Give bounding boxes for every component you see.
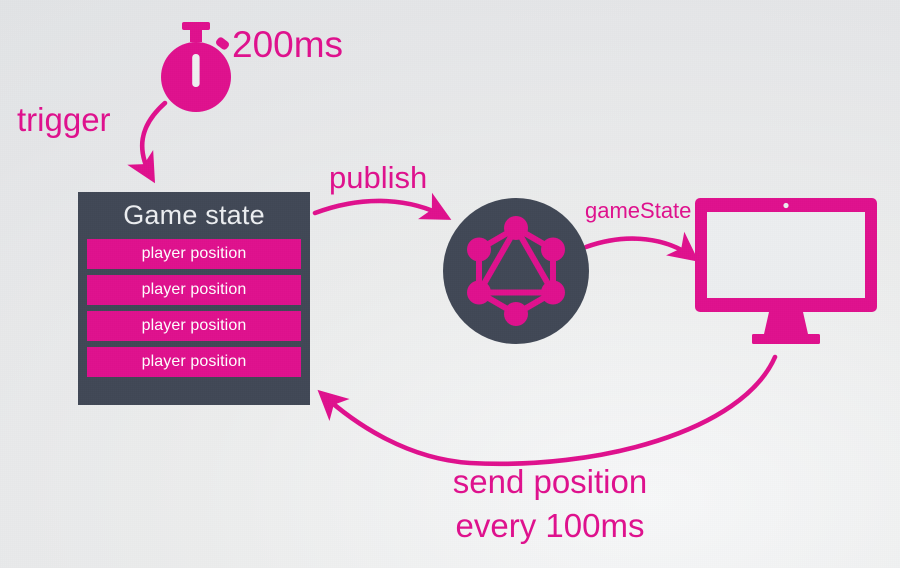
publish-label: publish: [329, 160, 427, 196]
player-position-row: player position: [87, 347, 301, 377]
player-position-label: player position: [142, 317, 247, 335]
send-position-arrow: [322, 357, 775, 464]
trigger-arrow: [142, 103, 165, 178]
player-position-row: player position: [87, 275, 301, 305]
diagram-canvas: Game state player position player positi…: [0, 0, 900, 568]
monitor-icon: [695, 198, 877, 346]
game-state-title: Game state: [87, 197, 301, 233]
player-position-row: player position: [87, 311, 301, 341]
trigger-label: trigger: [17, 101, 111, 139]
game-state-panel: Game state player position player positi…: [78, 192, 310, 405]
stopwatch-icon: [158, 22, 242, 114]
player-position-row: player position: [87, 239, 301, 269]
timer-duration-label: 200ms: [232, 24, 343, 67]
gamestate-arrow: [586, 239, 694, 258]
player-position-label: player position: [142, 245, 247, 263]
gamestate-subscription-label: gameState: [585, 198, 691, 223]
player-position-label: player position: [142, 353, 247, 371]
send-position-caption: send position every 100ms: [380, 460, 720, 548]
graphql-logo-icon: [443, 198, 589, 344]
player-position-label: player position: [142, 281, 247, 299]
publish-arrow: [315, 201, 446, 217]
